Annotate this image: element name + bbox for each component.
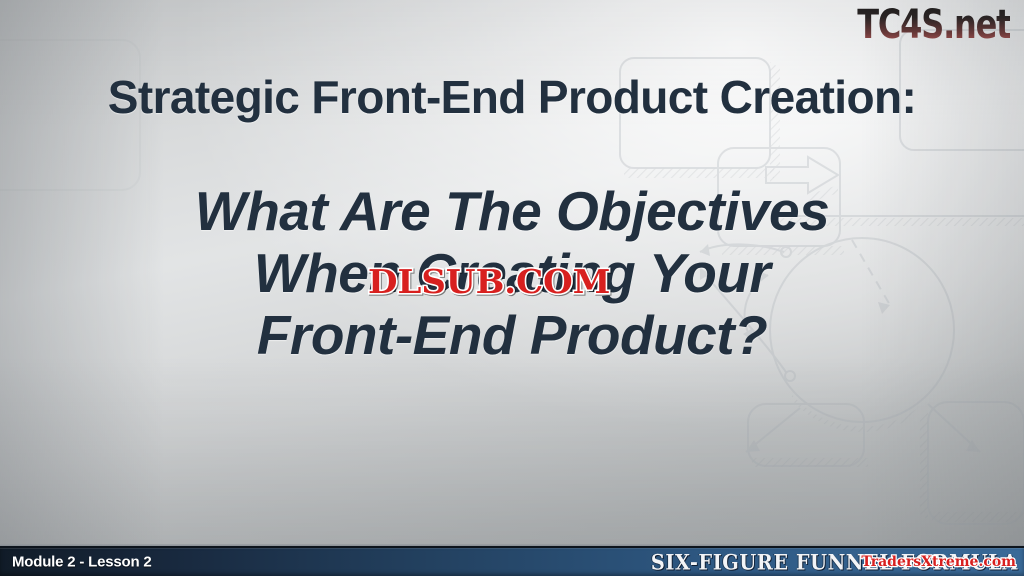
dlsub-watermark: DLSUB.COM xyxy=(368,262,610,301)
module-lesson-label: Module 2 - Lesson 2 xyxy=(12,554,152,571)
tradersxtreme-watermark: TradersXtreme.com xyxy=(861,554,1016,570)
subtitle-line-1: What Are The Objectives xyxy=(0,180,1024,242)
subtitle-line-3: Front-End Product? xyxy=(0,304,1024,366)
tc4s-logo: TC4S.net xyxy=(857,2,1010,48)
slide-canvas: TC4S.net Strategic Front-End Product Cre… xyxy=(0,0,1024,576)
page-title: Strategic Front-End Product Creation: xyxy=(0,70,1024,124)
footer-bar: Module 2 - Lesson 2 SIX-FIGURE FUNNEL FO… xyxy=(0,546,1024,576)
